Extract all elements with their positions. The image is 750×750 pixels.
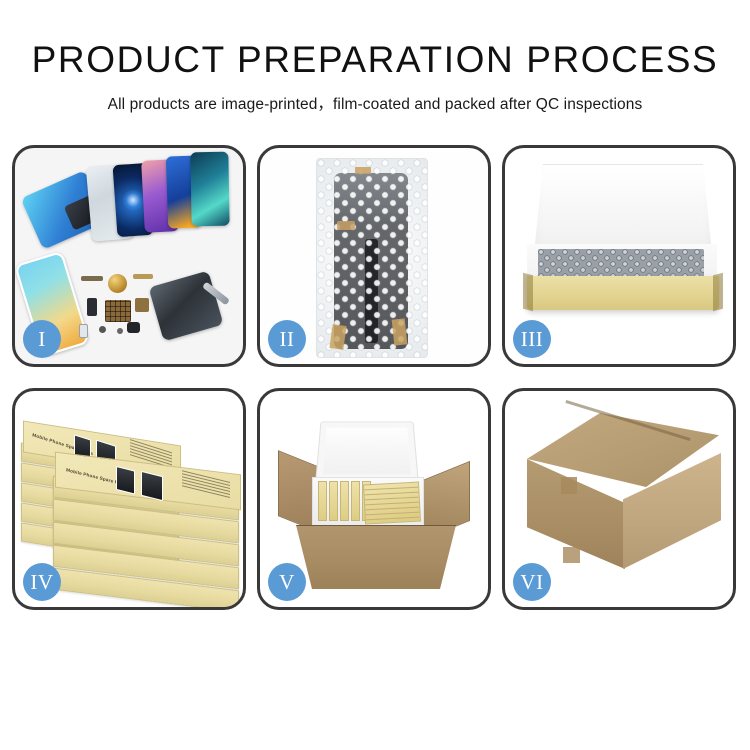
tape-bottom-right	[392, 318, 408, 345]
bubble-wrapped-contents	[538, 249, 704, 279]
speaker-module	[108, 274, 127, 293]
carton-tape-lower	[563, 547, 580, 563]
step-badge-1: I	[23, 320, 61, 358]
process-row-bottom: Mobile Phone Spare Parts Mobile Phone Sp…	[12, 388, 738, 610]
box-spec-lines	[182, 470, 230, 500]
box-phone-graphic	[141, 471, 163, 501]
tape-mid	[337, 221, 355, 230]
step-badge-3: III	[513, 320, 551, 358]
carton-body	[296, 525, 456, 589]
step-badge-5: V	[268, 563, 306, 601]
page-subtitle: All products are image-printed，film-coat…	[0, 92, 750, 114]
step-badge-4: IV	[23, 563, 61, 601]
process-step-panel-5: V	[257, 388, 491, 610]
page-title: PRODUCT PREPARATION PROCESS	[0, 41, 750, 80]
process-row-top: I II	[12, 145, 738, 367]
step-badge-2: II	[268, 320, 306, 358]
process-step-panel-2: II	[257, 145, 491, 367]
small-screw-2	[117, 328, 123, 334]
process-step-panel-4: Mobile Phone Spare Parts Mobile Phone Sp…	[12, 388, 246, 610]
header: PRODUCT PREPARATION PROCESS All products…	[0, 0, 750, 114]
process-step-panel-6: VI	[502, 388, 736, 610]
phone-display-teal	[190, 152, 229, 227]
camera-module	[127, 322, 140, 333]
box-phone-graphic	[116, 466, 135, 495]
flex-cable-3	[87, 298, 97, 316]
foam-lid	[315, 421, 419, 481]
product-preparation-infographic: PRODUCT PREPARATION PROCESS All products…	[0, 0, 750, 750]
process-step-panel-3: III	[502, 145, 736, 367]
bubble-wrapped-screen	[316, 158, 428, 358]
small-screw-1	[99, 326, 106, 333]
process-step-panel-1: I	[12, 145, 246, 367]
phone-back-housing	[148, 271, 223, 342]
cream-box-tray	[527, 276, 719, 310]
tape-top	[355, 167, 371, 174]
step-badge-6: VI	[513, 563, 551, 601]
carton-tape-upper	[561, 477, 577, 494]
inner-boxes-stack	[363, 482, 421, 525]
flex-cable-2	[133, 274, 153, 279]
sim-tray	[79, 324, 88, 338]
flex-cable-1	[81, 276, 103, 281]
flex-cable-4	[135, 298, 149, 312]
logic-board-chip	[105, 300, 131, 322]
process-steps-grid: I II	[12, 145, 738, 610]
